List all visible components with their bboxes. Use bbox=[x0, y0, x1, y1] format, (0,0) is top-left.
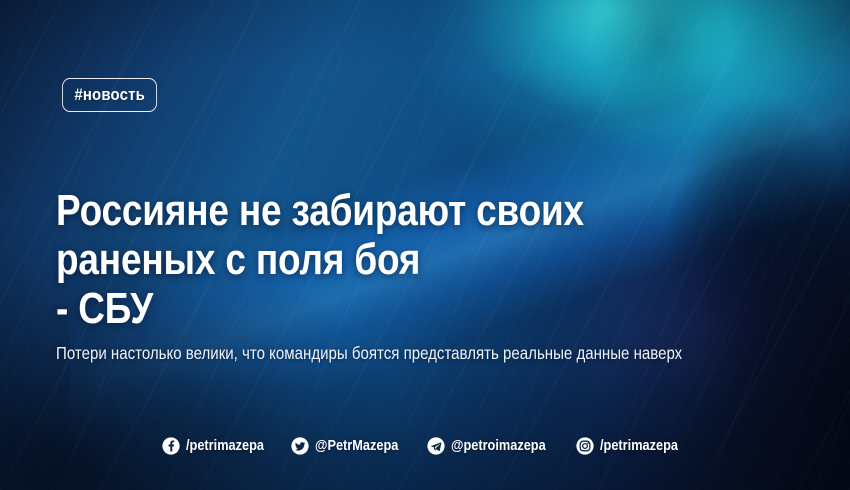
twitter-icon bbox=[291, 437, 309, 455]
instagram-icon bbox=[576, 437, 594, 455]
social-link-facebook[interactable]: /petrimazepa bbox=[162, 437, 275, 455]
card-content: #новость Россияне не забирают своих ране… bbox=[0, 0, 850, 490]
social-link-telegram[interactable]: @petroimazepa bbox=[427, 437, 559, 455]
telegram-icon bbox=[427, 437, 445, 455]
facebook-icon bbox=[162, 437, 180, 455]
social-handle-twitter: @PetrMazepa bbox=[315, 438, 398, 454]
social-link-instagram[interactable]: /petrimazepa bbox=[576, 437, 689, 455]
category-badge[interactable]: #новость bbox=[62, 78, 157, 112]
social-links-bar: /petrimazepa @PetrMazepa @petroimazepa bbox=[0, 437, 850, 455]
social-handle-telegram: @petroimazepa bbox=[451, 438, 546, 454]
social-link-twitter[interactable]: @PetrMazepa bbox=[291, 437, 410, 455]
page-title: Россияне не забирают своих раненых с пол… bbox=[56, 186, 694, 333]
social-handle-facebook: /petrimazepa bbox=[186, 438, 264, 454]
news-card: #новость Россияне не забирают своих ране… bbox=[0, 0, 850, 490]
social-handle-instagram: /petrimazepa bbox=[600, 438, 678, 454]
subtitle-text: Потери настолько велики, что командиры б… bbox=[56, 342, 761, 364]
